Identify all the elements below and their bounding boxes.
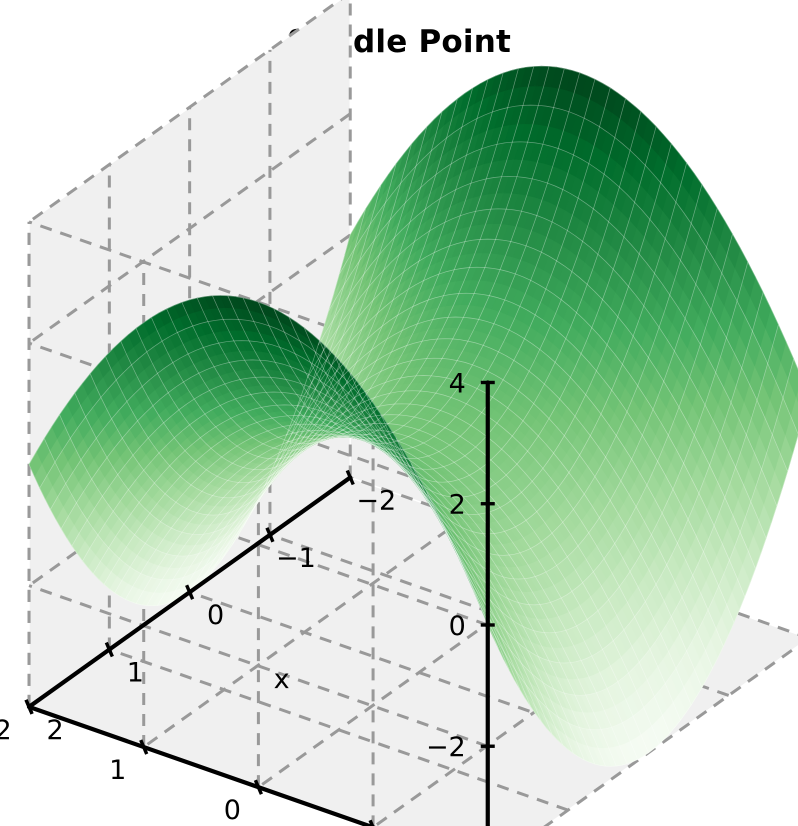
y-tick-label: 0 [224, 795, 241, 826]
figure-canvas: Saddle Point −4−2024−2−1012−2−1012yx [0, 0, 798, 826]
x-tick-label: −2 [356, 486, 396, 517]
x-tick-label: −1 [276, 543, 316, 574]
z-tick-label: 4 [449, 368, 466, 399]
surface-plot-3d-axes: −4−2024−2−1012−2−1012yx [0, 0, 798, 826]
z-tick-label: 2 [449, 490, 466, 521]
x-tick-label: 0 [207, 600, 224, 631]
z-tick-label: −2 [426, 732, 466, 763]
x-tick-label: 2 [46, 715, 63, 746]
x-axis-label: x [274, 664, 290, 695]
x-tick-label: 1 [127, 658, 144, 689]
y-tick-label: 1 [109, 755, 126, 786]
z-tick-label: 0 [449, 611, 466, 642]
y-tick-label: 2 [0, 715, 12, 746]
